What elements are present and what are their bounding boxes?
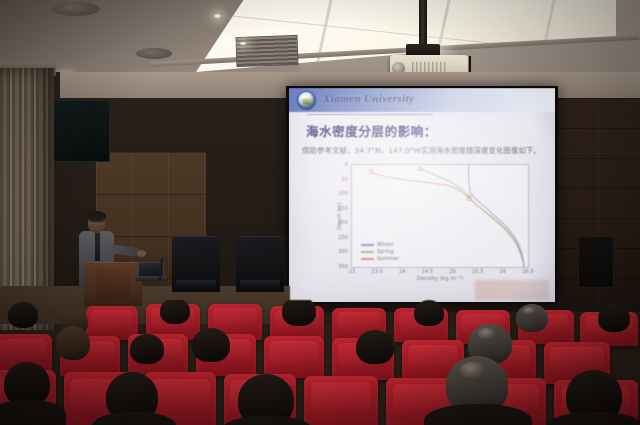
slide-watermark: [475, 280, 549, 300]
slide-title: 海水密度分层的影响：: [306, 121, 437, 140]
air-vent-icon: [136, 48, 172, 59]
air-vent-icon: [235, 35, 298, 67]
chart-legend: WinterSpringSummer: [358, 240, 402, 264]
audience-seating-area: [0, 300, 640, 425]
chart-series-winter: [469, 165, 524, 267]
legend-swatch-icon: [361, 251, 374, 252]
legend-label: Spring: [377, 249, 394, 255]
chart-legend-item-summer: Summer: [361, 256, 399, 262]
audience-member: [8, 302, 38, 328]
chart-y-axis-label: Depth (m): [337, 202, 343, 230]
projection-screen-icon: Xiamen University 海水密度分层的影响： 借助参考文献，34.7…: [289, 88, 555, 302]
projector-mount-pole: [419, 0, 427, 48]
downlight-icon: [240, 42, 246, 45]
chart-legend-item-winter: Winter: [361, 242, 399, 248]
legend-label: Summer: [377, 256, 399, 262]
audience-member: [192, 328, 230, 362]
presenter-hair: [87, 211, 106, 221]
audience-member: [516, 304, 548, 332]
auditorium-seat: [304, 376, 378, 425]
chart-x-tick: 26.5: [522, 269, 534, 275]
audience-member: [160, 300, 190, 324]
chart-x-tick: 26: [500, 269, 507, 275]
chart-legend-item-spring: Spring: [361, 249, 399, 255]
chart-x-tick: 23.5: [371, 269, 383, 275]
auditorium-seat: [264, 336, 324, 378]
chart-marker-spring: [418, 166, 422, 170]
downlight-icon: [214, 14, 221, 18]
chart-x-tick: 25.5: [472, 269, 484, 275]
presenter-shirt-placket: [95, 233, 100, 261]
chart-y-tick: 0: [345, 162, 348, 168]
audience-member: [414, 300, 444, 326]
lectern-front-panel: [96, 268, 130, 300]
chart-x-axis-label: Density (kg m⁻³): [417, 276, 464, 282]
lecture-hall-photo: Xiamen University 海水密度分层的影响： 借助参考文献，34.7…: [0, 0, 640, 425]
chart-x-tick: 25: [449, 269, 456, 275]
chart-y-tick: 350: [338, 264, 348, 270]
air-vent-icon: [52, 2, 100, 16]
audience-member: [130, 334, 164, 364]
audience-member-shoulders: [0, 400, 66, 425]
audience-member: [598, 304, 630, 332]
chart-marker-summer: [369, 169, 373, 173]
slide-university-name: Xiamen University: [323, 93, 414, 105]
legend-swatch-icon: [361, 244, 374, 245]
wall-speaker-icon: [578, 236, 614, 288]
legend-swatch-icon: [361, 258, 374, 259]
presenter-hand: [137, 250, 146, 257]
front-row-chair: [236, 236, 284, 292]
chart-y-tick: 300: [338, 249, 348, 255]
legend-label: Winter: [377, 242, 394, 248]
chart-x-tick: 24.5: [422, 269, 434, 275]
chart-x-tick: 23: [349, 269, 356, 275]
slide-header-rule: [307, 114, 433, 115]
chart-y-tick: 250: [338, 235, 348, 241]
presenter-glasses-icon: [89, 221, 104, 224]
university-crest-icon: [297, 91, 316, 110]
chart-x-tick: 24: [399, 269, 406, 275]
density-depth-chart: 050100150200250300350 2323.52424.52525.5…: [311, 160, 541, 292]
front-row-chair: [172, 236, 220, 292]
laptop-keyboard: [136, 276, 166, 281]
audience-member: [356, 330, 394, 364]
chart-y-tick: 100: [338, 191, 348, 197]
slide-body-text: 借助参考文献，34.7°N，147.0°W实测海水密度随深度变化图像如下。: [302, 145, 555, 156]
audience-member: [56, 326, 90, 360]
chart-y-tick: 50: [341, 177, 348, 183]
chart-plot-area: 050100150200250300350 2323.52424.52525.5…: [351, 164, 529, 268]
audience-member: [282, 300, 316, 326]
